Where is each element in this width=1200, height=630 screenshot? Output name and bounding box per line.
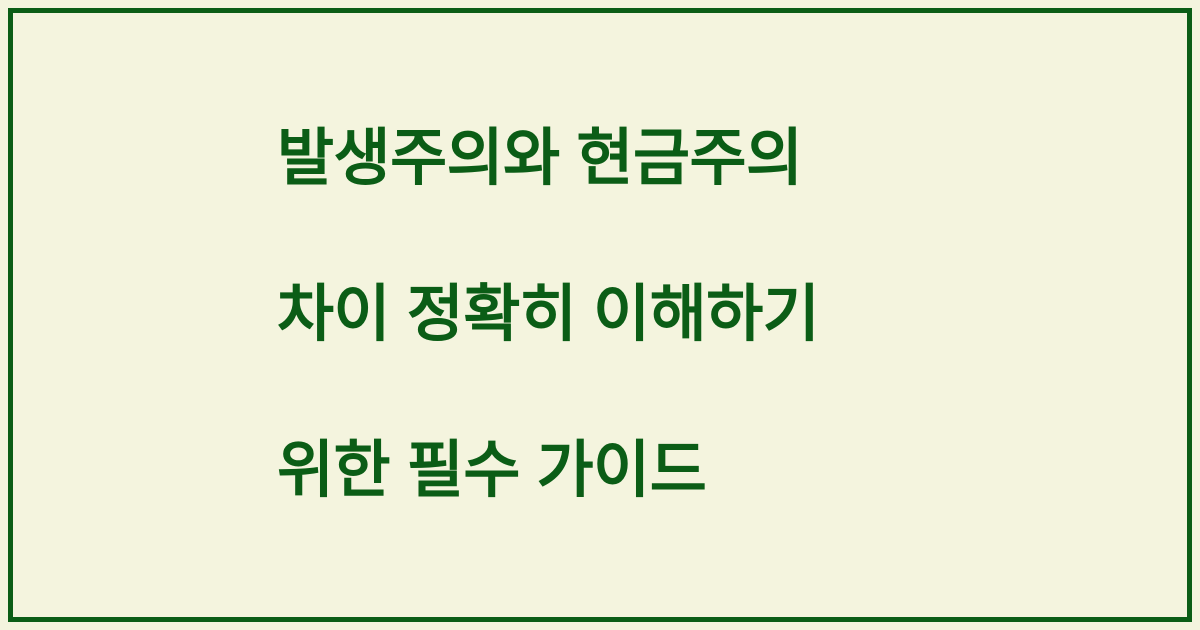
headline-container: 발생주의와 현금주의 차이 정확히 이해하기 위한 필수 가이드 (0, 0, 1200, 630)
page-title: 발생주의와 현금주의 차이 정확히 이해하기 위한 필수 가이드 (277, 42, 819, 588)
headline-line-3: 위한 필수 가이드 (277, 432, 819, 510)
headline-line-1: 발생주의와 현금주의 (277, 120, 819, 198)
title-card: 발생주의와 현금주의 차이 정확히 이해하기 위한 필수 가이드 (0, 0, 1200, 630)
headline-line-2: 차이 정확히 이해하기 (277, 276, 819, 354)
